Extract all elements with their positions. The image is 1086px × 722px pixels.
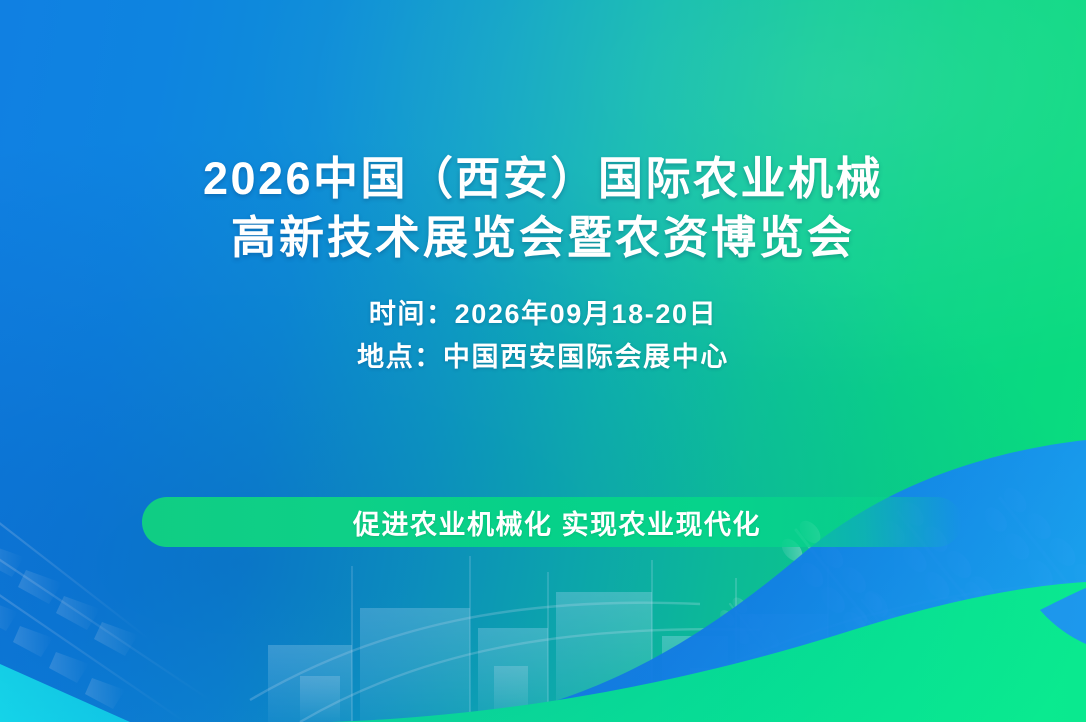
event-date: 时间：2026年09月18-20日 — [357, 293, 729, 336]
event-venue: 地点：中国西安国际会展中心 — [357, 336, 729, 379]
event-poster: 2026中国（西安）国际农业机械 高新技术展览会暨农资博览会 时间：2026年0… — [0, 0, 1086, 722]
poster-content: 2026中国（西安）国际农业机械 高新技术展览会暨农资博览会 时间：2026年0… — [0, 0, 1086, 722]
title-line-1: 2026中国（西安）国际农业机械 — [203, 150, 883, 209]
page-title: 2026中国（西安）国际农业机械 高新技术展览会暨农资博览会 — [203, 150, 883, 267]
title-line-2: 高新技术展览会暨农资博览会 — [203, 209, 883, 268]
event-info: 时间：2026年09月18-20日 地点：中国西安国际会展中心 — [357, 293, 729, 378]
